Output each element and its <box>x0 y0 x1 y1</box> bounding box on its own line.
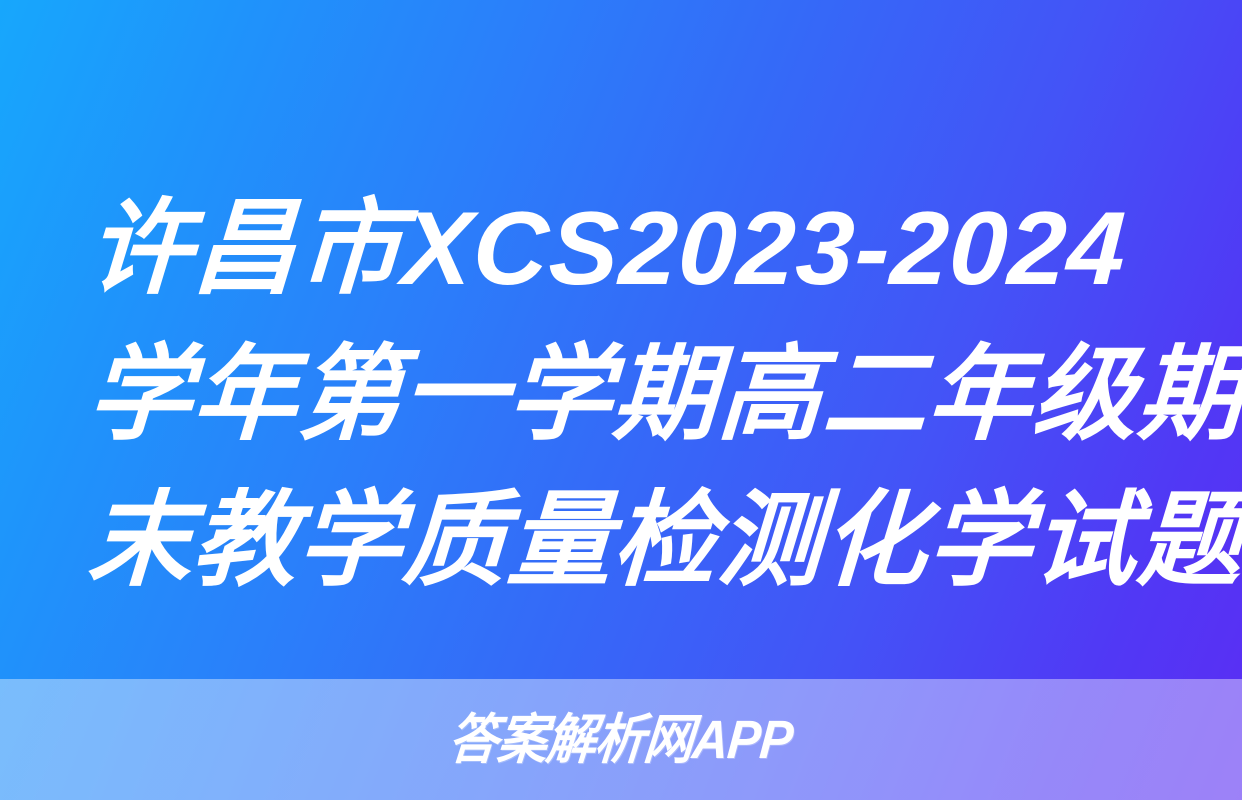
watermark-band: 答案解析网APP <box>0 679 1242 800</box>
title-line-2: 学年第一学期高二年级期 <box>84 322 1172 468</box>
page-title: 许昌市XCS2023-2024 学年第一学期高二年级期 末教学质量检测化学试题 <box>84 176 1164 614</box>
title-line-1: 许昌市XCS2023-2024 <box>84 176 1172 322</box>
cover-card: 许昌市XCS2023-2024 学年第一学期高二年级期 末教学质量检测化学试题 … <box>0 0 1242 800</box>
title-line-3: 末教学质量检测化学试题 <box>84 468 1172 614</box>
watermark-label: 答案解析网APP <box>447 710 795 770</box>
